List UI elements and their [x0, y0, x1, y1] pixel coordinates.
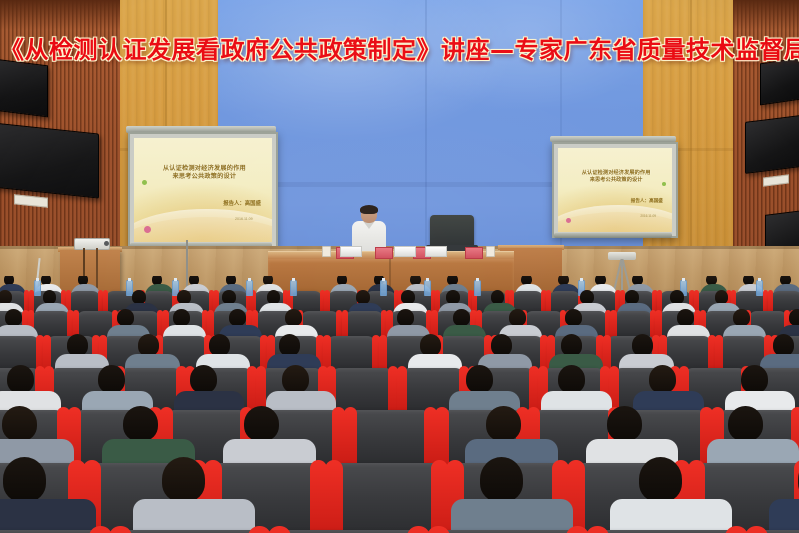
audience-member-head — [43, 290, 57, 304]
audience-member-head — [0, 290, 12, 304]
audience-member-head — [565, 309, 582, 326]
audience-member-head — [715, 290, 729, 304]
slide-dot-pink — [566, 218, 571, 223]
slide-date: 2016.11.09 — [235, 217, 253, 221]
water-bottle — [34, 280, 41, 296]
audience-seating — [0, 276, 799, 533]
water-bottle — [380, 280, 387, 296]
audience-member-head — [491, 334, 512, 356]
audience-member-head — [229, 309, 246, 326]
audience-member-head — [285, 309, 302, 326]
audience-member-head — [733, 309, 750, 326]
audience-member-head — [607, 406, 642, 442]
audience-member-head — [190, 365, 217, 393]
water-bottle — [246, 280, 253, 296]
audience-member-head — [480, 457, 524, 502]
audience-member-torso — [451, 499, 573, 533]
audience-member-head — [741, 365, 768, 393]
audience-member-torso — [769, 499, 799, 533]
audience-member-head — [789, 309, 799, 326]
tissue-box — [425, 246, 447, 257]
audience-member-head — [491, 290, 505, 304]
water-bottle — [424, 280, 431, 296]
audience-member-head — [5, 309, 22, 326]
slide-dot-pink — [144, 226, 151, 233]
audience-member-head — [401, 290, 415, 304]
ceiling-shadow-right — [733, 0, 799, 30]
audience-member-head — [222, 290, 236, 304]
audience-member-head — [117, 309, 134, 326]
wall-monitor-icon — [760, 57, 799, 106]
audience-member-head — [7, 365, 34, 393]
audience-member-head — [466, 365, 493, 393]
audience-member-head — [453, 309, 470, 326]
audience-member-head — [728, 406, 763, 442]
slide-swoosh — [134, 209, 272, 242]
slide-title: 从认证检测对经济发展的作用 来思考公共政策的设计 — [142, 165, 266, 182]
wall-monitor-icon — [745, 114, 799, 174]
projector-lens-icon — [104, 241, 109, 246]
audience-member-head — [2, 406, 37, 442]
auditorium-seat — [333, 463, 441, 533]
audience-member-head — [177, 290, 191, 304]
audience-member-head — [123, 406, 158, 442]
ceiling-shadow-left — [0, 0, 120, 30]
audience-member-head — [3, 457, 47, 502]
slide-swoosh — [558, 205, 672, 232]
audience-member-head — [98, 365, 125, 393]
audience-member-head — [773, 334, 794, 356]
auditorium-seat — [326, 336, 376, 370]
audience-member-head — [580, 290, 594, 304]
audience-member-head — [173, 309, 190, 326]
auditorium-seat — [349, 410, 431, 466]
photo-canvas: 从认证检测对经济发展的作用 来思考公共政策的设计 报告人：高国盛 2016.11… — [0, 0, 799, 533]
audience-member-torso — [133, 499, 255, 533]
audience-member-head — [625, 290, 639, 304]
audience-member-head — [209, 334, 230, 356]
tissue-box — [340, 246, 362, 257]
audience-member-head — [632, 334, 653, 356]
slide-title-line1: 从认证检测对经济发展的作用 — [565, 170, 668, 177]
audience-member-head — [279, 334, 300, 356]
slide-title-line2: 来思考公共政策的设计 — [565, 177, 668, 184]
tissue-box — [394, 246, 416, 257]
slide-surface: 从认证检测对经济发展的作用 来思考公共政策的设计 报告人：高国盛 2016.11… — [558, 148, 672, 232]
audience-member-head — [446, 290, 460, 304]
backdrop-seam — [425, 0, 427, 268]
slide-date: 2016.11.09 — [640, 214, 656, 218]
audience-member-head — [244, 406, 279, 442]
wall-monitor-icon — [0, 59, 48, 118]
name-card — [465, 247, 483, 259]
slide-title: 从认证检测对经济发展的作用 来思考公共政策的设计 — [565, 170, 668, 184]
audience-member-head — [558, 365, 585, 393]
left-projection-screen: 从认证检测对经济发展的作用 来思考公共政策的设计 报告人：高国盛 2016.11… — [128, 132, 278, 248]
cup — [322, 246, 331, 257]
water-bottle — [290, 280, 297, 296]
wall-monitor-icon — [0, 122, 99, 198]
auditorium-seat — [331, 368, 394, 411]
audience-member-head — [356, 290, 370, 304]
audience-member-head — [162, 457, 206, 502]
audience-member-head — [561, 334, 582, 356]
audience-member-head — [420, 334, 441, 356]
audience-member-head — [282, 365, 309, 393]
audience-member-head — [132, 290, 146, 304]
slide-presenter: 报告人：高国盛 — [223, 199, 261, 207]
audience-member-head — [509, 309, 526, 326]
audience-member-head — [486, 406, 521, 442]
speaker-hair — [360, 205, 378, 214]
audience-member-head — [138, 334, 159, 356]
audience-member-head — [67, 334, 88, 356]
slide-title-line2: 来思考公共政策的设计 — [142, 173, 266, 181]
audience-member-head — [670, 290, 684, 304]
slide-presenter: 报告人：高国盛 — [631, 198, 663, 204]
audience-member-torso — [0, 499, 96, 533]
screen-weight-bar-right — [554, 233, 672, 238]
audience-member-torso — [610, 499, 732, 533]
audience-member-head — [677, 309, 694, 326]
audience-member-head — [639, 457, 683, 502]
right-projection-screen: 从认证检测对经济发展的作用 来思考公共政策的设计 报告人：高国盛 2016.11… — [552, 142, 678, 238]
water-bottle — [756, 280, 763, 296]
slide-surface: 从认证检测对经济发展的作用 来思考公共政策的设计 报告人：高国盛 2016.11… — [134, 138, 272, 242]
audience-member-head — [267, 290, 281, 304]
auditorium-seat — [344, 311, 384, 338]
cup — [486, 246, 495, 257]
audience-member-head — [649, 365, 676, 393]
water-bottle — [474, 280, 481, 296]
name-card — [375, 247, 393, 259]
audience-member-head — [397, 309, 414, 326]
